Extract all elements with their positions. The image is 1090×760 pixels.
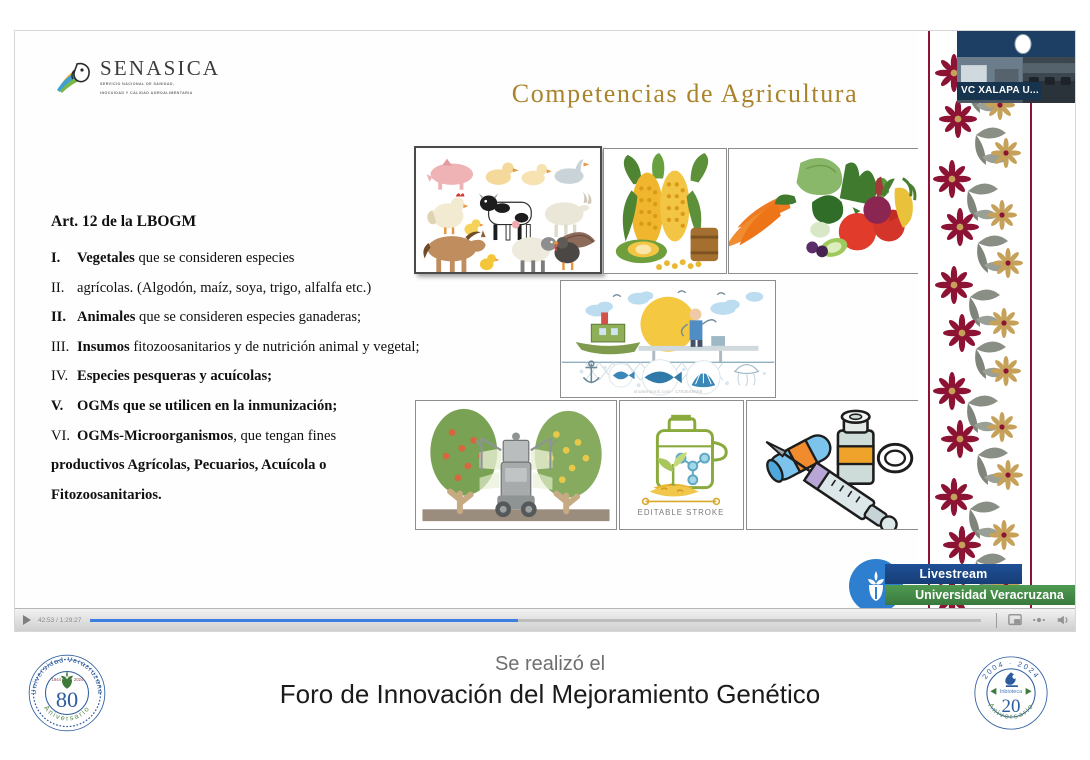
list-item-number: II. [51, 281, 77, 296]
progress-bar[interactable] [90, 619, 981, 622]
senasica-subtitle-line1: SERVICIO NACIONAL DE SANIDAD, [100, 82, 220, 87]
senasica-wordmark: SENASICA [100, 58, 220, 79]
list-item: V.OGMs que se utilicen en la inmunizació… [51, 399, 403, 414]
senasica-emblem-icon [53, 58, 93, 96]
corn-illustration [603, 148, 727, 274]
fertilizer-canister-illustration: EDITABLE STROKE [619, 400, 744, 530]
divider [996, 613, 997, 628]
list-item-continuation: Fitozoosanitarios. [51, 488, 403, 503]
slide-title: Competencias de Agricultura [455, 79, 915, 109]
progress-fill [90, 619, 518, 622]
floral-pattern-svg [918, 31, 1076, 609]
list-item-number: II. [51, 310, 77, 325]
veracruz-floral-embroidery-border [918, 31, 1076, 609]
list-item: VI.OGMs-Microorganismos, que tengan fine… [51, 429, 403, 444]
footer-line-1: Se realizó el [250, 652, 850, 677]
university-label: Universidad Veracruzana [885, 585, 1076, 605]
svg-text:20: 20 [1002, 696, 1021, 717]
list-item-number: VI. [51, 429, 77, 444]
border-rule-left [928, 31, 930, 609]
list-item-text: agrícolas. (Algodón, maíz, soya, trigo, … [77, 281, 371, 296]
list-item-text: Especies pesqueras y acuícolas; [77, 369, 272, 384]
vaccine-syringe-illustration [746, 400, 924, 530]
border-rule-right [1030, 31, 1032, 609]
livestream-label: Livestream [885, 564, 1022, 584]
list-item-text: Insumos fitozoosanitarios y de nutrición… [77, 340, 420, 355]
player-controls[interactable]: 42:53 / 1:29:27 [15, 608, 1075, 631]
fishing-aquaculture-illustration: shutterstock.com · 1793549668 [560, 280, 776, 398]
list-item-number: I. [51, 251, 77, 266]
institution-seal-icon [1014, 34, 1031, 54]
list-item: III.Insumos fitozoosanitarios y de nutri… [51, 340, 403, 355]
footer-line-2: Foro de Innovación del Mejoramiento Gené… [250, 677, 850, 712]
list-item-text: Animales que se consideren especies gana… [77, 310, 361, 325]
video-player[interactable]: SENASICA SERVICIO NACIONAL DE SANIDAD, I… [14, 30, 1076, 632]
list-item-text: Vegetales que se consideren especies [77, 251, 294, 266]
svg-text:2024: 2024 [74, 677, 84, 682]
page-footer: Universidad Veracruzana Aniversario 1944… [0, 640, 1090, 760]
screen: SENASICA SERVICIO NACIONAL DE SANIDAD, I… [0, 0, 1090, 760]
vegetables-illustration [728, 148, 924, 274]
svg-text:1944: 1944 [52, 677, 62, 682]
footer-text: Se realizó el Foro de Innovación del Mej… [250, 652, 850, 712]
inbioteca-20-anniversary-seal: 2004 · 2024 Aniversario Inbioteca 20 [968, 650, 1054, 736]
time-display: 42:53 / 1:29:27 [38, 617, 81, 624]
svg-text:80: 80 [56, 687, 78, 712]
article-heading: Art. 12 de la LBOGM [51, 213, 403, 231]
list-item-number: IV. [51, 369, 77, 384]
list-item: IV.Especies pesqueras y acuícolas; [51, 369, 403, 384]
list-item: I.Vegetales que se consideren especies [51, 251, 403, 266]
senasica-logo: SENASICA SERVICIO NACIONAL DE SANIDAD, I… [53, 58, 220, 96]
volume-icon[interactable] [1056, 613, 1070, 627]
picture-in-picture-icon[interactable] [1008, 613, 1022, 627]
list-item: II.agrícolas. (Algodón, maíz, soya, trig… [51, 281, 403, 296]
presentation-slide: SENASICA SERVICIO NACIONAL DE SANIDAD, I… [15, 31, 918, 609]
senasica-subtitle-line2: INOCUIDAD Y CALIDAD AGROALIMENTARIA [100, 91, 220, 96]
image-mosaic: shutterstock.com · 1793549668 [414, 146, 924, 531]
play-button[interactable] [23, 615, 31, 625]
list-item-number: III. [51, 340, 77, 355]
svg-text:EDITABLE STROKE: EDITABLE STROKE [638, 508, 725, 517]
list-item-number: V. [51, 399, 77, 414]
camera-label: VC XALAPA U... [957, 82, 1041, 100]
list-item-text: OGMs-Microorganismos, que tengan fines [77, 429, 336, 444]
list-item-text: OGMs que se utilicen en la inmunización; [77, 399, 337, 414]
svg-text:Inbioteca: Inbioteca [1000, 689, 1023, 695]
farm-animals-illustration [414, 146, 602, 274]
slide-body: Art. 12 de la LBOGM I.Vegetales que se c… [51, 213, 403, 517]
orchard-sprayer-illustration [415, 400, 617, 530]
settings-icon[interactable] [1032, 613, 1046, 627]
svg-text:shutterstock.com · 1793549668: shutterstock.com · 1793549668 [634, 389, 703, 395]
list-item: II.Animales que se consideren especies g… [51, 310, 403, 325]
uv-80-anniversary-seal: Universidad Veracruzana Aniversario 1944… [24, 650, 110, 736]
list-item-continuation: productivos Agrícolas, Pecuarios, Acuíco… [51, 458, 403, 473]
